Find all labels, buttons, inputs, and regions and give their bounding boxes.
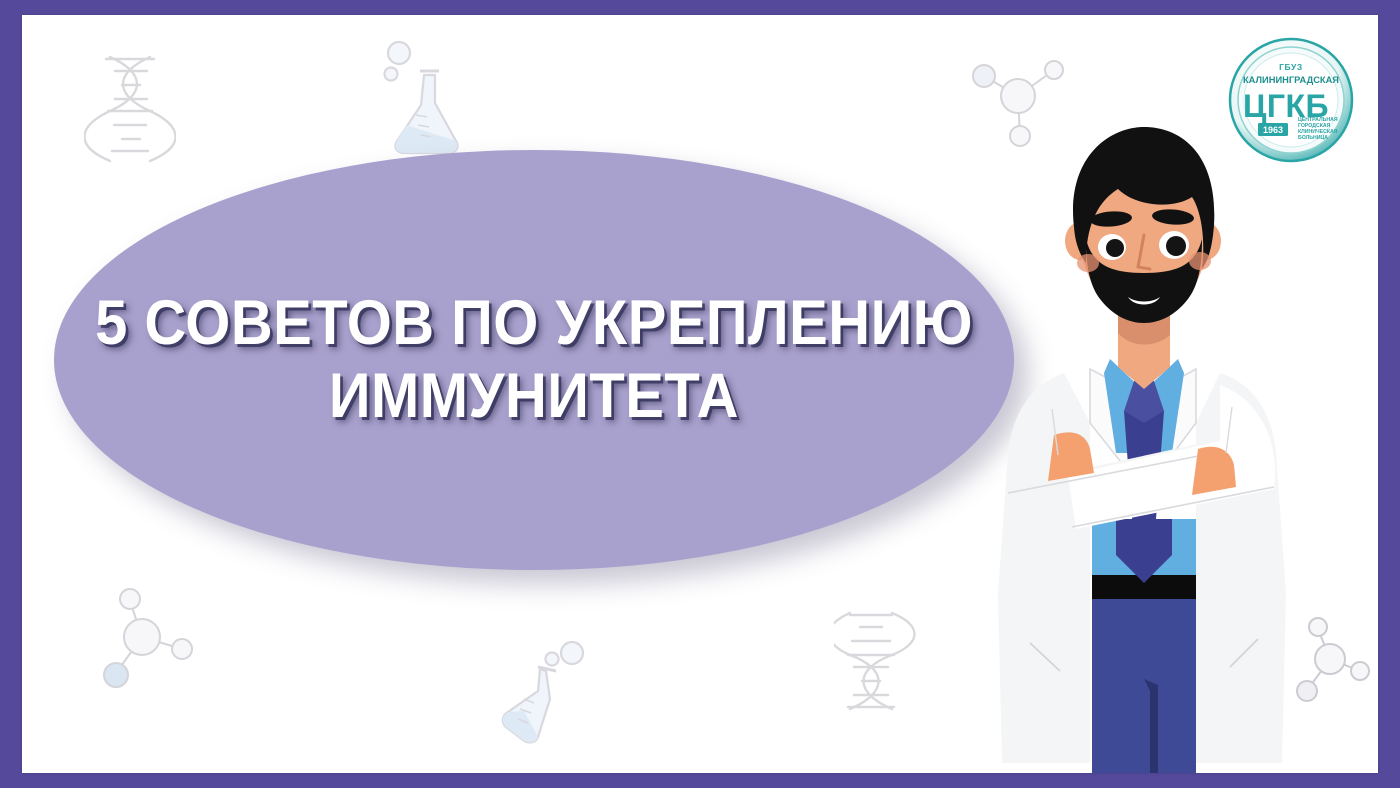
dna-helix-icon <box>834 607 932 719</box>
page-title-line-2: ИММУНИТЕТА <box>329 360 739 433</box>
logo-org-type: ГБУЗ <box>1279 62 1303 72</box>
logo-city: КАЛИНИНГРАДСКАЯ <box>1243 75 1339 85</box>
doctor-illustration <box>968 123 1308 773</box>
hospital-logo: ГБУЗ КАЛИНИНГРАДСКАЯ ЦГКБ 1963 ЦЕНТРАЛЬН… <box>1228 37 1354 163</box>
slide-frame: 5 СОВЕТОВ ПО УКРЕПЛЕНИЮ ИММУНИТЕТА <box>0 0 1400 788</box>
molecule-icon <box>94 587 204 693</box>
slide-canvas: 5 СОВЕТОВ ПО УКРЕПЛЕНИЮ ИММУНИТЕТА <box>22 15 1378 773</box>
logo-year: 1963 <box>1263 125 1283 135</box>
dna-helix-icon <box>84 47 176 165</box>
page-title: 5 СОВЕТОВ ПО УКРЕПЛЕНИЮ ИММУНИТЕТА <box>54 150 1014 570</box>
flask-icon <box>494 625 590 745</box>
flask-icon <box>377 37 471 159</box>
logo-fullname-line-4: БОЛЬНИЦА <box>1298 135 1328 141</box>
page-title-line-1: 5 СОВЕТОВ ПО УКРЕПЛЕНИЮ <box>95 287 973 360</box>
